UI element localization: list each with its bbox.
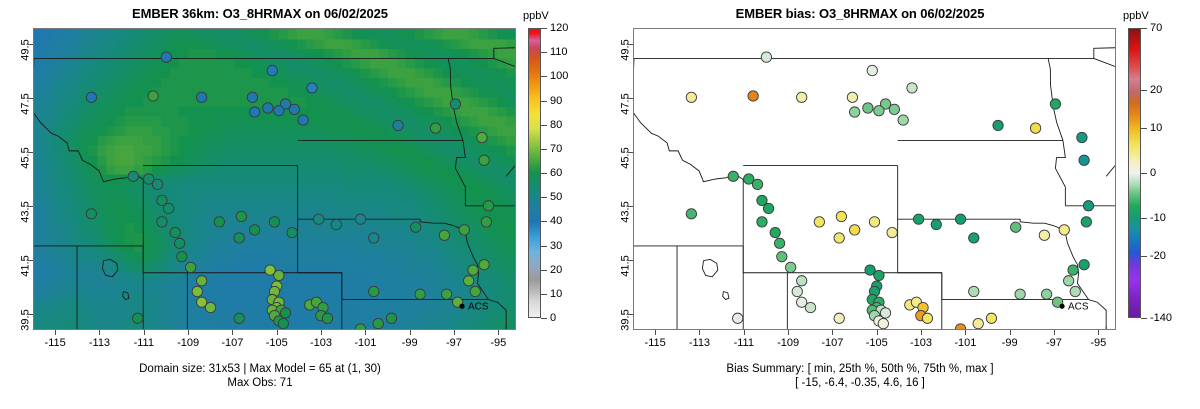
x-axis-tick-label: -95 (1090, 337, 1106, 349)
x-axis-tick (188, 330, 189, 335)
x-axis-tick-label: -113 (89, 337, 110, 349)
x-axis-tick (321, 330, 322, 335)
y-axis-tick-label: 45.5 (619, 147, 631, 168)
x-axis-tick-label: -115 (645, 337, 666, 349)
x-axis-tick (232, 330, 233, 335)
svg-text:ACS: ACS (1068, 302, 1089, 313)
panel-bias: EMBER bias: O3_8HRMAX on 06/02/2025 ACS … (600, 0, 1200, 409)
x-axis-tick-label: -99 (1002, 337, 1018, 349)
x-axis-tick-label: -97 (1046, 337, 1062, 349)
colorbar-tick-label: 10 (1150, 122, 1162, 134)
panel-model-title: EMBER 36km: O3_8HRMAX on 06/02/2025 (0, 6, 520, 21)
colorbar-tick (541, 28, 547, 29)
x-axis-tick-label: -101 (954, 337, 976, 349)
colorbar-tick (1141, 318, 1147, 319)
colorbar-tick-label: -140 (1150, 312, 1172, 324)
x-axis-tick-label: -109 (777, 337, 799, 349)
y-axis-tick-label: 49.5 (619, 39, 631, 60)
x-axis-tick-label: -103 (310, 337, 332, 349)
x-axis-tick (1010, 330, 1011, 335)
panel-bias-plot-frame: ACS (633, 28, 1116, 330)
panel-bias-caption: Bias Summary: [ min, 25th %, 50th %, 75t… (600, 362, 1120, 390)
colorbar-tick (1141, 256, 1147, 257)
y-axis-tick-label: 45.5 (19, 147, 31, 168)
colorbar-tick-label: -20 (1150, 250, 1166, 262)
colorbar-tick-label: 40 (550, 215, 562, 227)
x-axis-tick-label: -107 (221, 337, 243, 349)
panel-bias-plot-area: ACS (634, 29, 1115, 329)
colorbar-tick (1141, 173, 1147, 174)
x-axis-tick (454, 330, 455, 335)
colorbar-tick-label: 120 (550, 22, 568, 34)
x-axis-tick (498, 330, 499, 335)
colorbar-unit-label: ppbV (523, 10, 549, 22)
x-axis-tick (99, 330, 100, 335)
colorbar-tick (541, 318, 547, 319)
x-axis-tick (788, 330, 789, 335)
colorbar-tick (1141, 28, 1147, 29)
y-axis-tick-label: 49.5 (19, 39, 31, 60)
panel-model-plot-area: ACS (34, 29, 515, 329)
panel-model-plot-frame: ACS (33, 28, 516, 330)
colorbar-tick (1141, 218, 1147, 219)
x-axis-tick (655, 330, 656, 335)
colorbar-tick-label: 50 (550, 191, 562, 203)
colorbar-tick (541, 221, 547, 222)
colorbar-tick (541, 197, 547, 198)
x-axis-tick (744, 330, 745, 335)
x-axis-tick-label: -115 (45, 337, 66, 349)
bias-map-overlay: ACS (634, 29, 1115, 329)
colorbar-tick-label: 70 (550, 143, 562, 155)
panel-model: EMBER 36km: O3_8HRMAX on 06/02/2025 ACS … (0, 0, 600, 409)
y-axis-tick-label: 39.5 (19, 309, 31, 330)
colorbar-tick-label: -10 (1150, 212, 1166, 224)
colorbar-tick-label: 20 (1150, 84, 1162, 96)
y-axis-tick-label: 47.5 (19, 93, 31, 114)
panel-model-y-axis: 39.541.543.545.547.549.5 (0, 28, 33, 330)
colorbar-tick (1141, 128, 1147, 129)
colorbar-tick-label: 30 (550, 240, 562, 252)
y-axis-tick-label: 47.5 (619, 93, 631, 114)
colorbar-gradient (528, 28, 541, 318)
x-axis-tick-label: -113 (689, 337, 710, 349)
x-axis-tick (365, 330, 366, 335)
colorbar-tick-label: 90 (550, 95, 562, 107)
colorbar-gradient (1128, 28, 1141, 318)
caption-line-2: [ -15, -6.4, -0.35, 4.6, 16 ] (600, 376, 1120, 390)
colorbar-tick (541, 101, 547, 102)
panel-model-x-axis: -115-113-111-109-107-105-103-101-99-97-9… (33, 330, 516, 360)
panel-bias-x-axis: -115-113-111-109-107-105-103-101-99-97-9… (633, 330, 1116, 360)
x-axis-tick (55, 330, 56, 335)
colorbar-unit-label: ppbV (1123, 10, 1149, 22)
colorbar-tick-label: 0 (550, 312, 556, 324)
x-axis-tick-label: -107 (821, 337, 843, 349)
colorbar-tick (541, 294, 547, 295)
x-axis-tick (699, 330, 700, 335)
x-axis-tick-label: -99 (402, 337, 418, 349)
caption-line-1: Bias Summary: [ min, 25th %, 50th %, 75t… (600, 362, 1120, 376)
x-axis-tick-label: -101 (354, 337, 376, 349)
colorbar-tick-label: 20 (550, 264, 562, 276)
y-axis-tick-label: 41.5 (19, 255, 31, 276)
panel-bias-y-axis: 39.541.543.545.547.549.5 (600, 28, 633, 330)
colorbar-tick (541, 125, 547, 126)
colorbar-tick (541, 173, 547, 174)
x-axis-tick-label: -95 (490, 337, 506, 349)
caption-line-1: Domain size: 31x53 | Max Model = 65 at (… (0, 362, 520, 376)
colorbar-tick (541, 270, 547, 271)
colorbar-tick-label: 80 (550, 119, 562, 131)
x-axis-tick-label: -97 (446, 337, 462, 349)
x-axis-tick-label: -105 (866, 337, 888, 349)
y-axis-tick-label: 43.5 (619, 201, 631, 222)
x-axis-tick (1098, 330, 1099, 335)
svg-text:ACS: ACS (468, 302, 489, 313)
x-axis-tick-label: -111 (134, 337, 154, 349)
panel-bias-title: EMBER bias: O3_8HRMAX on 06/02/2025 (600, 6, 1120, 21)
x-axis-tick (277, 330, 278, 335)
colorbar-tick-label: 70 (1150, 22, 1162, 34)
x-axis-tick (965, 330, 966, 335)
colorbar-tick (1141, 90, 1147, 91)
x-axis-tick (410, 330, 411, 335)
colorbar-tick (541, 246, 547, 247)
x-axis-tick (144, 330, 145, 335)
x-axis-tick-label: -105 (266, 337, 288, 349)
colorbar-tick-label: 0 (1150, 167, 1156, 179)
colorbar-tick-label: 60 (550, 167, 562, 179)
x-axis-tick (877, 330, 878, 335)
colorbar-tick-label: 10 (550, 288, 562, 300)
colorbar-tick (541, 52, 547, 53)
colorbar-tick (541, 76, 547, 77)
y-axis-tick-label: 41.5 (619, 255, 631, 276)
caption-line-2: Max Obs: 71 (0, 376, 520, 390)
model-map-overlay: ACS (34, 29, 515, 329)
x-axis-tick-label: -109 (177, 337, 199, 349)
figure-root: EMBER 36km: O3_8HRMAX on 06/02/2025 ACS … (0, 0, 1200, 409)
x-axis-tick-label: -103 (910, 337, 932, 349)
y-axis-tick-label: 43.5 (19, 201, 31, 222)
y-axis-tick-label: 39.5 (619, 309, 631, 330)
x-axis-tick (921, 330, 922, 335)
x-axis-tick (1054, 330, 1055, 335)
colorbar-tick-label: 100 (550, 70, 568, 82)
panel-model-caption: Domain size: 31x53 | Max Model = 65 at (… (0, 362, 520, 390)
x-axis-tick (832, 330, 833, 335)
colorbar-tick-label: 110 (550, 46, 568, 58)
colorbar-tick (541, 149, 547, 150)
x-axis-tick-label: -111 (734, 337, 754, 349)
